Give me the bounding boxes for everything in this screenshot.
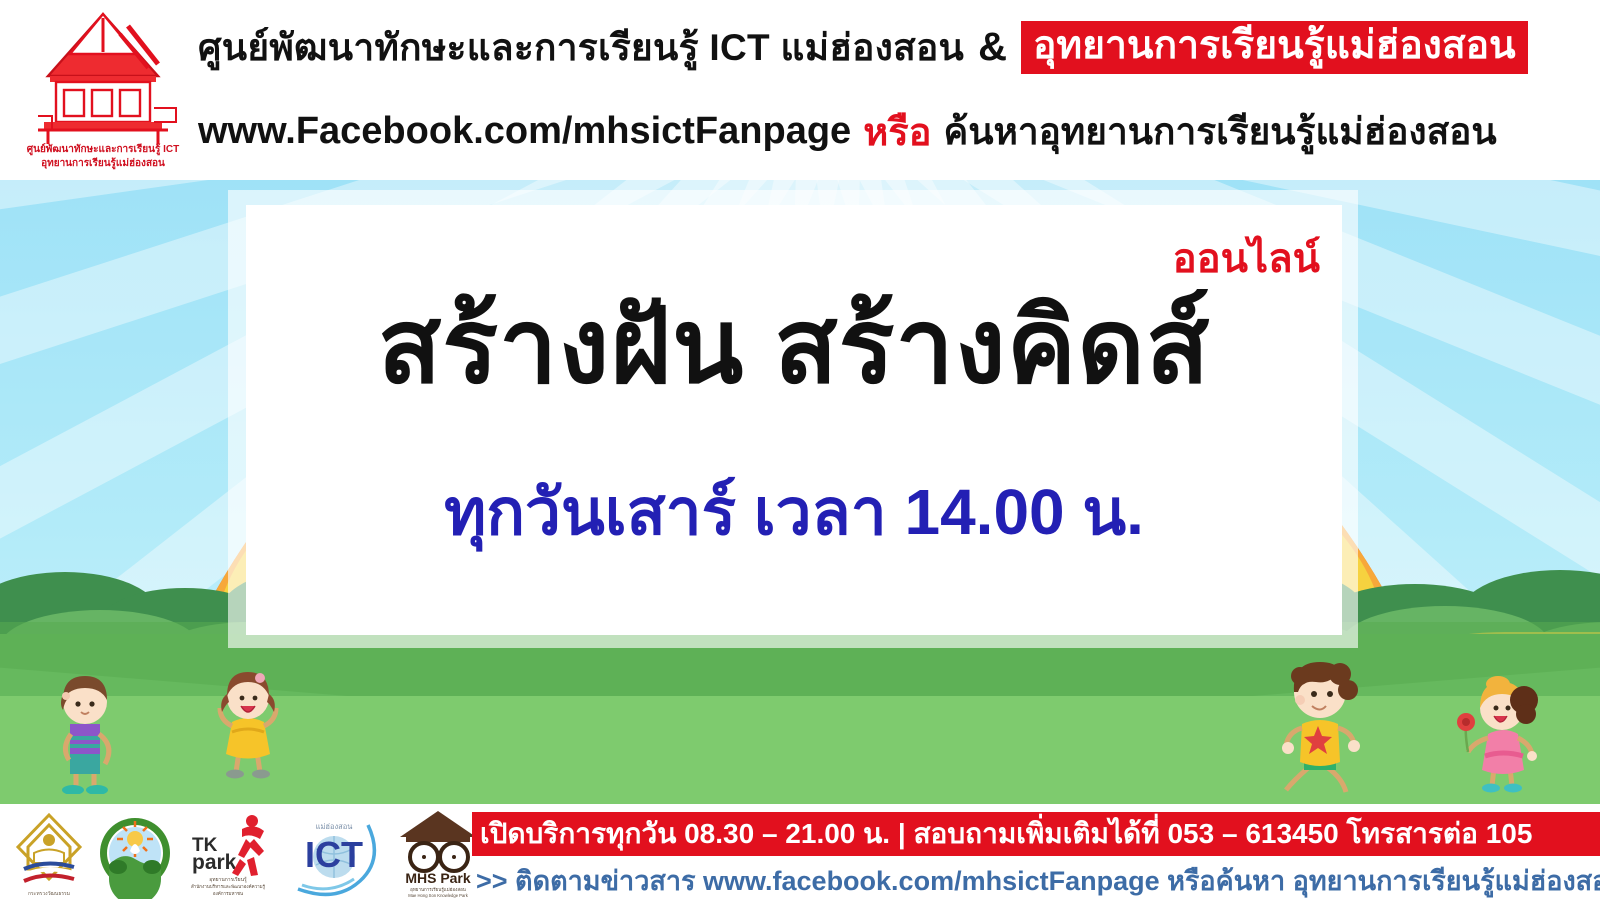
header-org-name: ศูนย์พัฒนาทักษะและการเรียนรู้ ICT แม่ฮ่อ… [198,18,964,77]
mhs-park-caption-2: Mae Hong Son Knowledge Park [408,893,468,898]
logo-caption-line1: ศูนย์พัฒนาทักษะและการเรียนรู้ ICT [27,143,179,156]
tk-park-caption-3: องค์การมหาชน [213,890,243,896]
mae-hong-son-province-seal [96,807,174,899]
header-facebook-url[interactable]: www.Facebook.com/mhsictFanpage [198,110,851,153]
header-line-1: ศูนย์พัฒนาทักษะและการเรียนรู้ ICT แม่ฮ่อ… [198,8,1600,86]
follow-us-line[interactable]: >> ติดตามข่าวสาร www.facebook.com/mhsict… [476,860,1600,900]
online-badge: ออนไลน์ [1173,239,1320,279]
kid-girl-pink-dress-flower [1452,664,1544,798]
page-title: สร้างฝัน สร้างคิดส์ [246,293,1342,402]
mhs-park-logo: MHS Park อุทยานการเรียนรู้แม่ฮ่องสอน Mae… [392,807,484,899]
ict-logo-top-text: แม่ฮ่องสอน [316,822,353,831]
header-ampersand: & [964,25,1021,70]
schedule-subtitle: ทุกวันเสาร์ เวลา 14.00 น. [246,477,1342,547]
ict-logo: แม่ฮ่องสอน ICT [282,807,386,899]
tk-park-logo: TK park อุทยานการเรียนรู้ สำนักงานบริหาร… [180,807,276,899]
tk-park-title-2: park [192,851,237,874]
header-line-2: www.Facebook.com/mhsictFanpage หรือ ค้นห… [198,92,1600,170]
header-text-block: ศูนย์พัฒนาทักษะและการเรียนรู้ ICT แม่ฮ่อ… [198,0,1600,180]
footer-bar: กระทรวงวัฒนธรรม TK [0,804,1600,900]
service-hours-bar: เปิดบริการทุกวัน 08.30 – 21.00 น. | สอบถ… [472,812,1600,856]
kid-boy-yellow-star-shirt [1270,648,1370,796]
header-search-hint: ค้นหาอุทยานการเรียนรู้แม่ฮ่องสอน [943,102,1496,161]
tk-park-caption-2: สำนักงานบริหารและพัฒนาองค์ความรู้ [191,883,266,890]
content-panel: ออนไลน์ สร้างฝัน สร้างคิดส์ ทุกวันเสาร์ … [246,205,1342,635]
kid-boy-purple-shirt [42,662,128,794]
partner-logo-strip: กระทรวงวัฒนธรรม TK [8,806,468,900]
footer-text-block: เปิดบริการทุกวัน 08.30 – 21.00 น. | สอบถ… [472,808,1600,900]
header-bar: ศูนย์พัฒนาทักษะและการเรียนรู้ ICT อุทยาน… [0,0,1600,180]
ministry-culture-caption: กระทรวงวัฒนธรรม [8,892,90,898]
mhs-park-title: MHS Park [405,870,471,886]
ministry-culture-logo: กระทรวงวัฒนธรรม [8,807,90,899]
ict-logo-title: ICT [305,834,363,875]
mhs-ict-house-logo: ศูนย์พัฒนาทักษะและการเรียนรู้ ICT อุทยาน… [8,4,198,176]
logo-caption-line2: อุทยานการเรียนรู้แม่ฮ่องสอน [41,157,165,170]
kid-girl-yellow-dress [208,660,288,786]
tk-park-caption-1: อุทยานการเรียนรู้ [209,876,247,883]
header-or-word: หรือ [851,101,943,162]
poster-root: ศูนย์พัฒนาทักษะและการเรียนรู้ ICT อุทยาน… [0,0,1600,900]
header-red-badge: อุทยานการเรียนรู้แม่ฮ่องสอน [1021,21,1528,74]
